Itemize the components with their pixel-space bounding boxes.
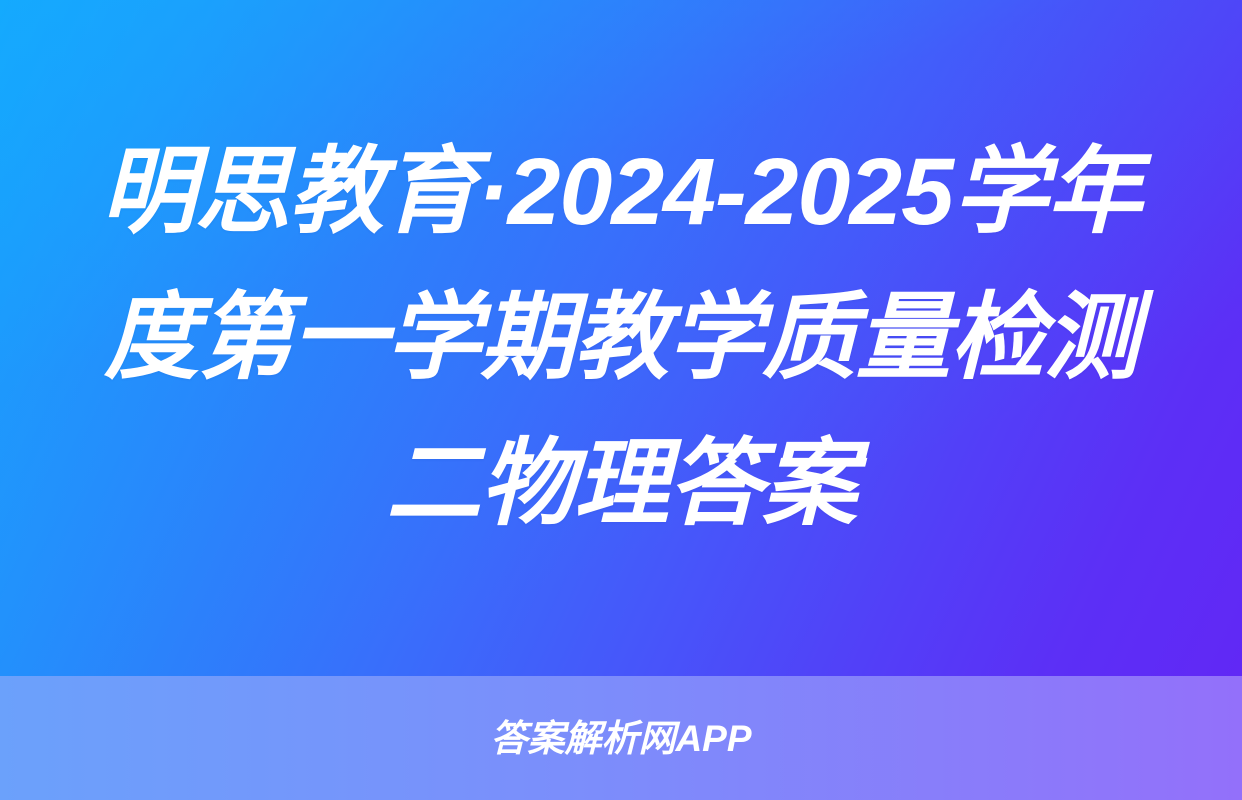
brand-watermark-label: 答案解析网APP [490, 720, 751, 757]
hero-banner: 明思教育·2024-2025学年度第一学期教学质量检测二物理答案 [0, 0, 1242, 676]
share-card: 明思教育·2024-2025学年度第一学期教学质量检测二物理答案 答案解析网AP… [0, 0, 1242, 800]
title-line-1: 明思教育·2024-2025学 [101, 139, 1047, 245]
page-title: 明思教育·2024-2025学年度第一学期教学质量检测二物理答案 [60, 119, 1182, 557]
footer-brand-band: 答案解析网APP [0, 676, 1242, 800]
